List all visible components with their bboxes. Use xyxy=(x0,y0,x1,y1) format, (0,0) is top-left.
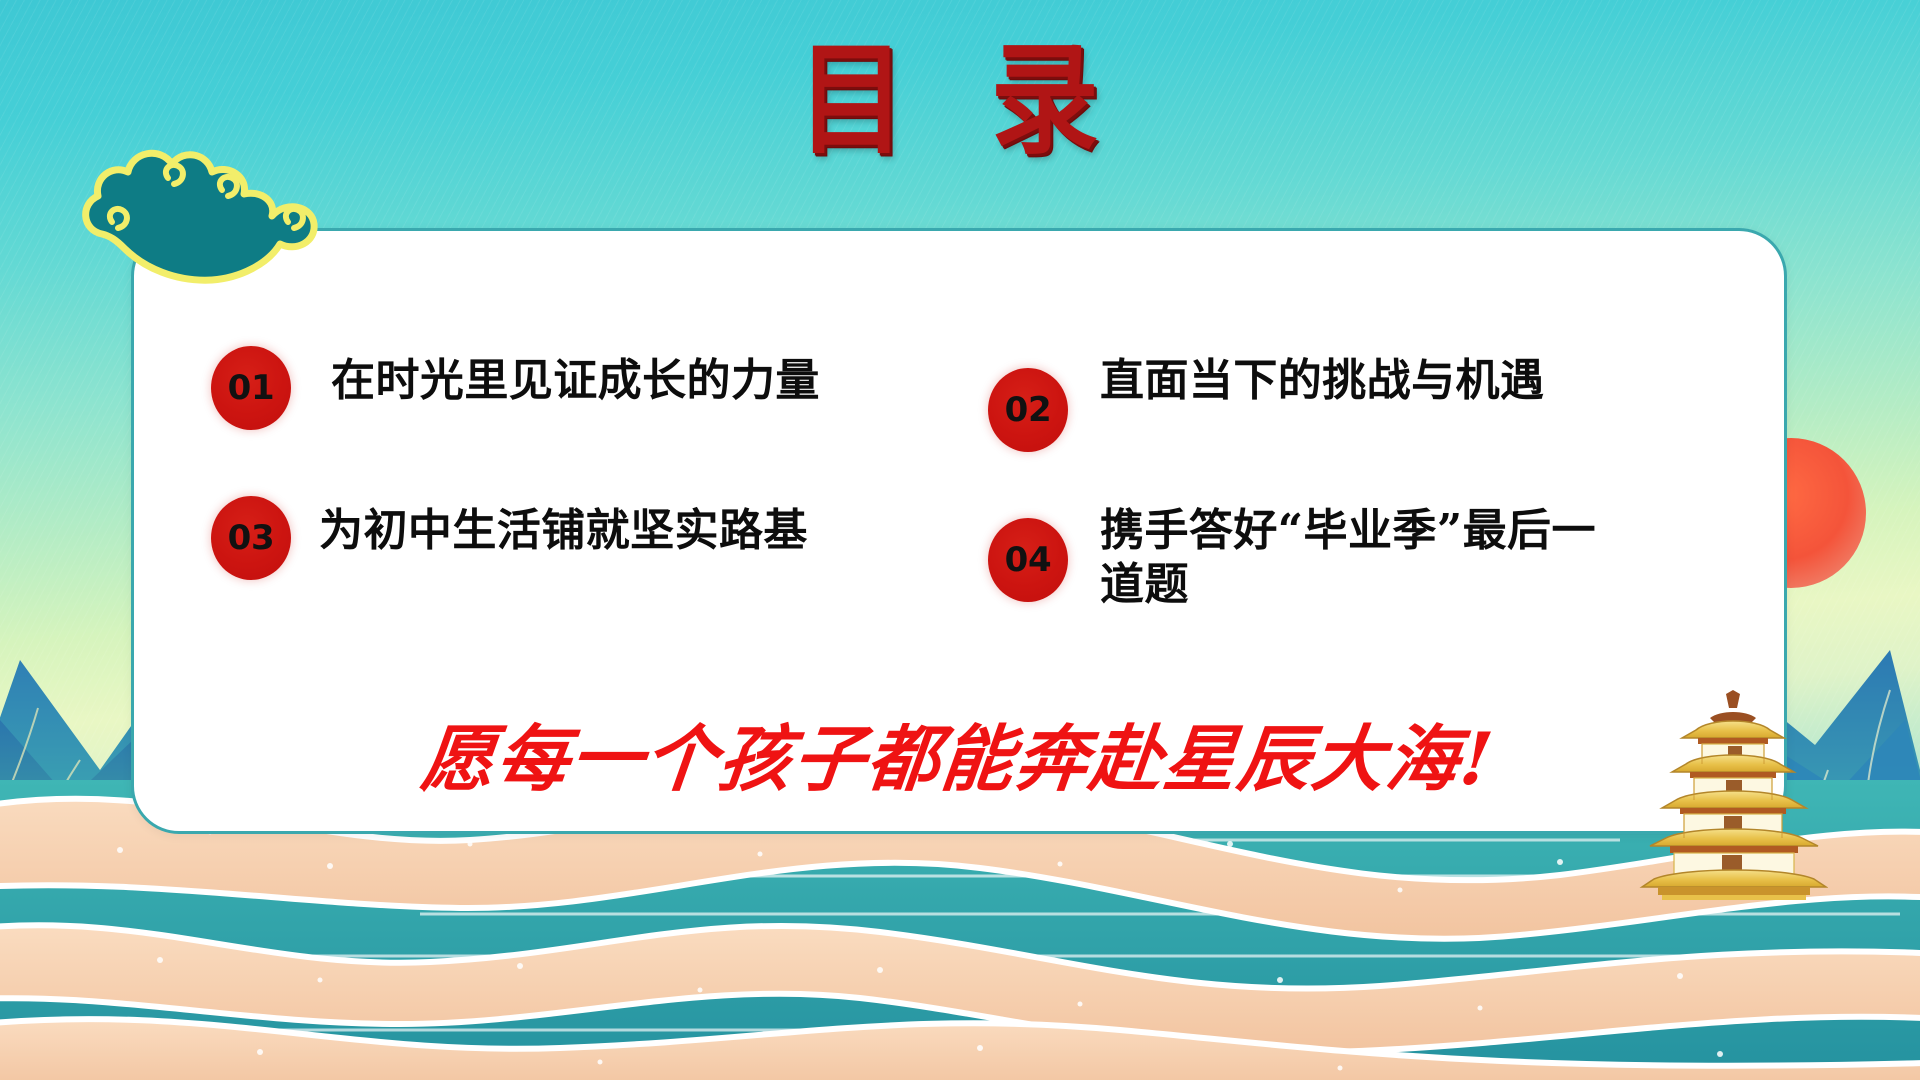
toc-badge-02: 02 xyxy=(988,368,1068,452)
toc-label-04: 携手答好“毕业季”最后一道题 xyxy=(1100,496,1630,611)
toc-badge-01: 01 xyxy=(211,346,291,430)
page-title: 目 录 xyxy=(0,38,1920,165)
toc-item-02[interactable]: 02 直面当下的挑战与机遇 xyxy=(988,346,1747,496)
toc-badge-03: 03 xyxy=(211,496,291,580)
slide-root: 目 录 xyxy=(0,0,1920,1080)
toc-item-03[interactable]: 03 为初中生活铺就坚实路基 xyxy=(211,496,970,666)
toc-badge-04: 04 xyxy=(988,518,1068,602)
toc-label-03: 为初中生活铺就坚实路基 xyxy=(319,496,808,558)
toc-item-01[interactable]: 01 在时光里见证成长的力量 xyxy=(211,346,970,496)
toc-label-02: 直面当下的挑战与机遇 xyxy=(1100,346,1544,408)
toc-label-01: 在时光里见证成长的力量 xyxy=(331,346,820,408)
slogan-text: 愿每一个孩子都能奔赴星辰大海! xyxy=(125,700,1792,805)
toc-item-04[interactable]: 04 携手答好“毕业季”最后一道题 xyxy=(988,496,1747,666)
